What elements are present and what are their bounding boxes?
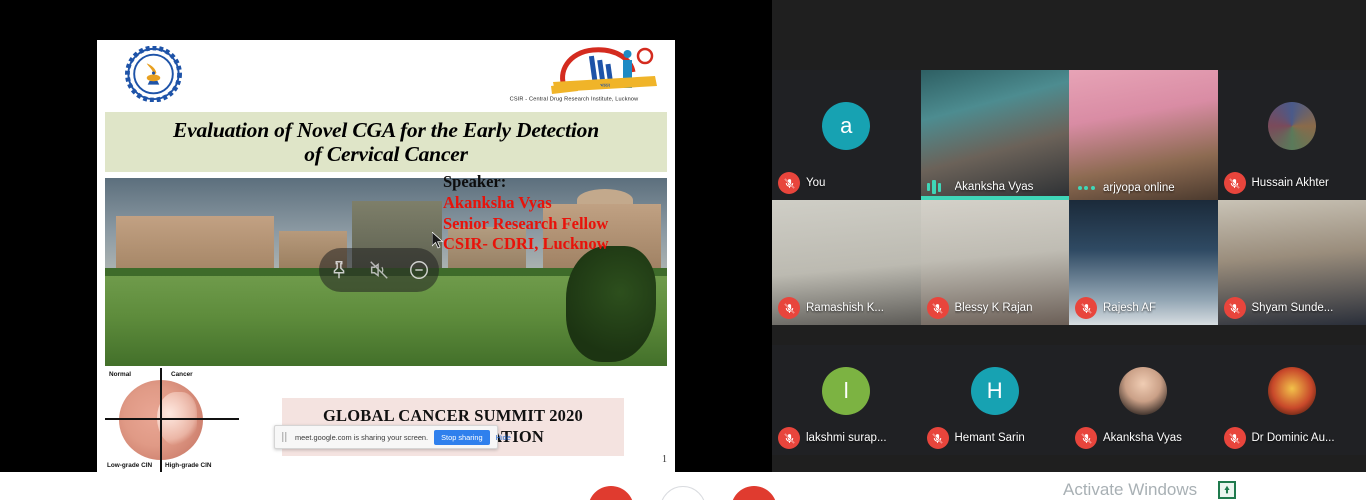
participant-name-row: Shyam Sunde... [1224,297,1363,319]
cdri-logo-caption: CSIR - Central Drug Research Institute, … [481,96,667,102]
participant-name: Rajesh AF [1103,302,1156,314]
avatar: H [971,367,1019,415]
activate-windows-watermark: Activate Windows [1063,480,1197,500]
mic-muted-icon[interactable] [1224,172,1246,194]
speaker-muted-icon[interactable] [368,259,390,281]
participant-rows: aYouAkanksha Vyasarjyopa onlineHussain A… [772,70,1366,455]
participant-tile[interactable]: Ramashish K... [772,200,921,325]
screen-share-infobar[interactable]: meet.google.com is sharing your screen. … [274,425,498,449]
avatar: l [822,367,870,415]
csir-india-logo [105,46,202,102]
participant-name: Ramashish K... [806,302,884,314]
share-message: meet.google.com is sharing your screen. [295,433,428,442]
diagram-label-cancer: Cancer [171,371,193,378]
presentation-slide[interactable]: भारत CSIR - Central Drug Research Instit… [97,40,675,475]
participant-name: Shyam Sunde... [1252,302,1334,314]
participant-row: Ramashish K...Blessy K RajanRajesh AFShy… [772,200,1366,325]
avatar: a [822,102,870,150]
participant-name: Hussain Akhter [1252,177,1329,189]
slide-logo-row: भारत CSIR - Central Drug Research Instit… [97,40,675,108]
camera-button[interactable] [731,486,777,500]
speaker-name: Akanksha Vyas [443,193,665,214]
participant-grid-panel[interactable]: aYouAkanksha Vyasarjyopa onlineHussain A… [772,0,1366,472]
stop-sharing-button[interactable]: Stop sharing [434,430,490,445]
participant-tile[interactable]: Dr Dominic Au... [1218,345,1366,455]
participant-tile[interactable]: llakshmi surap... [772,345,921,455]
participant-row: llakshmi surap...HHemant SarinAkanksha V… [772,345,1366,455]
participant-name-row: Ramashish K... [778,297,917,319]
slide-title-line1: Evaluation of Novel CGA for the Early De… [173,118,599,142]
participant-tile[interactable]: Akanksha Vyas [1069,345,1218,455]
participant-row: aYouAkanksha Vyasarjyopa onlineHussain A… [772,70,1366,200]
participant-name-row: Akanksha Vyas [927,180,1066,194]
participant-video [1069,70,1218,200]
svg-text:भारत: भारत [600,83,610,89]
windows-badge-glyph [1221,484,1233,496]
participant-tile[interactable]: Shyam Sunde... [1218,200,1366,325]
diagram-label-low-grade-cin: Low-grade CIN [107,462,152,469]
mic-muted-icon[interactable] [1224,297,1246,319]
participant-name: Dr Dominic Au... [1252,432,1335,444]
avatar [1268,102,1316,150]
participant-tile[interactable]: Blessy K Rajan [921,200,1070,325]
mic-muted-icon[interactable] [778,427,800,449]
participant-name-row: Rajesh AF [1075,297,1214,319]
mic-muted-icon[interactable] [778,297,800,319]
participant-name: lakshmi surap... [806,432,887,444]
mic-muted-icon[interactable] [927,297,949,319]
mic-muted-icon[interactable] [1075,427,1097,449]
mic-muted-icon[interactable] [927,427,949,449]
end-call-button[interactable] [660,486,706,500]
hide-infobar-link[interactable]: Hide [496,433,511,442]
speaker-info-block: Speaker: Akanksha Vyas Senior Research F… [443,172,665,255]
mic-muted-icon[interactable] [1075,297,1097,319]
video-hover-controls[interactable] [319,248,439,292]
pin-icon[interactable] [328,259,350,281]
mic-muted-icon[interactable] [1224,427,1246,449]
audio-dots-icon [1075,186,1097,190]
participant-name-row: Hussain Akhter [1224,172,1363,194]
minus-circle-icon[interactable] [408,259,430,281]
cervix-quadrant-diagram: Normal Cancer Low-grade CIN High-grade C… [105,368,239,472]
participant-name: Blessy K Rajan [955,302,1033,314]
windows-activate-badge [1218,481,1236,499]
participant-name-row: Akanksha Vyas [1075,427,1214,449]
slide-number: 1 [662,454,667,465]
participant-name-row: Hemant Sarin [927,427,1066,449]
participant-name-row: You [778,172,917,194]
audio-level-icon [927,180,949,194]
mic-muted-icon[interactable] [778,172,800,194]
meet-screen-share-window: भारत CSIR - Central Drug Research Instit… [0,0,1366,500]
participant-name-row: lakshmi surap... [778,427,917,449]
drag-handle-icon[interactable] [281,432,289,442]
speaker-organisation: CSIR- CDRI, Lucknow [443,234,665,255]
participant-name: Akanksha Vyas [955,181,1034,193]
participant-tile[interactable]: Akanksha Vyas [921,70,1070,200]
participant-tile[interactable]: aYou [772,70,921,200]
participant-name: Akanksha Vyas [1103,432,1182,444]
mic-button[interactable] [588,486,634,500]
participant-tile[interactable]: arjyopa online [1069,70,1218,200]
participant-tile[interactable]: Rajesh AF [1069,200,1218,325]
participant-name-row: Dr Dominic Au... [1224,427,1363,449]
avatar [1119,367,1167,415]
participant-name: arjyopa online [1103,182,1175,194]
summit-title: GLOBAL CANCER SUMMIT 2020 [323,406,583,427]
diagram-label-high-grade-cin: High-grade CIN [165,462,212,469]
speaker-role: Senior Research Fellow [443,214,665,235]
participant-name: Hemant Sarin [955,432,1025,444]
participant-tile[interactable]: HHemant Sarin [921,345,1070,455]
slide-title-band: Evaluation of Novel CGA for the Early De… [105,112,667,172]
speaker-label: Speaker: [443,172,665,193]
avatar [1268,367,1316,415]
participant-name: You [806,177,825,189]
diagram-label-normal: Normal [109,371,131,378]
participant-name-row: arjyopa online [1075,182,1214,194]
participant-name-row: Blessy K Rajan [927,297,1066,319]
participant-tile[interactable]: Hussain Akhter [1218,70,1366,200]
slide-title-line2: of Cervical Cancer [304,142,468,166]
shared-screen-region[interactable]: भारत CSIR - Central Drug Research Instit… [0,0,772,472]
